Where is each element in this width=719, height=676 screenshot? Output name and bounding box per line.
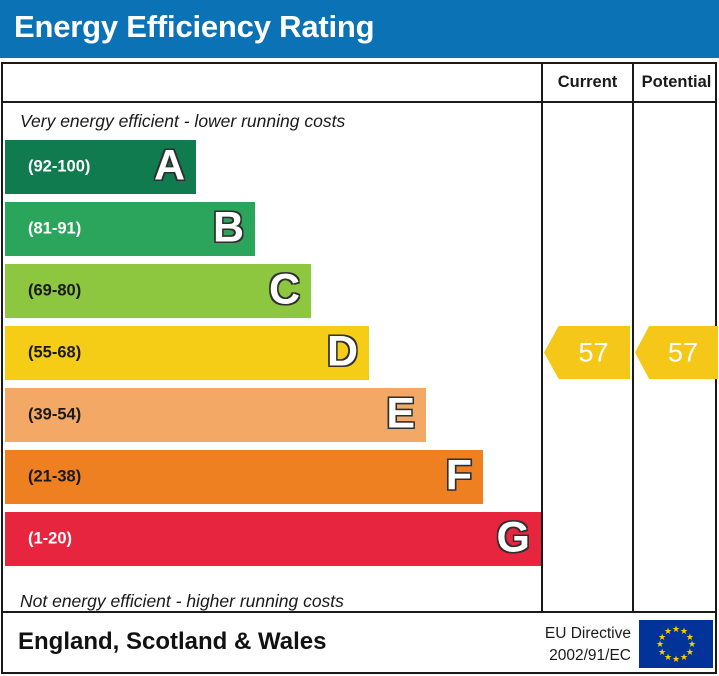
rating-band-range-d: (55-68)	[28, 344, 81, 363]
rating-band-range-b: (81-91)	[28, 220, 81, 239]
column-divider-current	[541, 64, 543, 611]
rating-band-letter-g: G	[497, 517, 530, 560]
eu-flag-star: ★	[672, 655, 680, 663]
rating-band-letter-a: A	[154, 145, 185, 188]
eu-flag-star: ★	[672, 625, 680, 633]
rating-band-e: (39-54)E	[5, 388, 426, 442]
caption-not-efficient: Not energy efficient - higher running co…	[20, 591, 344, 612]
rating-band-b: (81-91)B	[5, 202, 255, 256]
eu-directive-line1: EU Directive	[519, 623, 631, 645]
rating-table: Current Potential Very energy efficient …	[1, 62, 717, 613]
rating-band-letter-b: B	[213, 207, 244, 250]
rating-band-range-c: (69-80)	[28, 282, 81, 301]
rating-band-letter-f: F	[446, 455, 472, 498]
column-divider-potential	[632, 64, 634, 611]
current-rating-arrow: 57	[544, 326, 630, 379]
page-title: Energy Efficiency Rating	[14, 9, 374, 45]
eu-directive-line2: 2002/91/EC	[519, 645, 631, 667]
eu-directive-label: EU Directive 2002/91/EC	[519, 623, 631, 668]
potential-rating-value: 57	[635, 339, 718, 366]
rating-band-range-f: (21-38)	[28, 468, 81, 487]
footer-region-label: England, Scotland & Wales	[18, 628, 326, 656]
rating-band-g: (1-20)G	[5, 512, 541, 566]
chart-footer: England, Scotland & Wales EU Directive 2…	[1, 613, 717, 674]
rating-band-d: (55-68)D	[5, 326, 369, 380]
rating-band-range-g: (1-20)	[28, 530, 72, 549]
rating-band-letter-e: E	[386, 393, 415, 436]
rating-band-a: (92-100)A	[5, 140, 196, 194]
current-rating-value: 57	[544, 339, 630, 366]
energy-efficiency-rating-chart: Energy Efficiency Rating Current Potenti…	[0, 0, 719, 676]
rating-band-letter-d: D	[327, 331, 358, 374]
rating-band-c: (69-80)C	[5, 264, 311, 318]
column-header-potential: Potential	[634, 73, 719, 92]
eu-flag-star: ★	[680, 653, 688, 661]
caption-very-efficient: Very energy efficient - lower running co…	[20, 111, 345, 132]
chart-header-banner: Energy Efficiency Rating	[0, 0, 719, 58]
rating-band-f: (21-38)F	[5, 450, 483, 504]
eu-flag-star: ★	[664, 627, 672, 635]
column-header-current: Current	[543, 73, 632, 92]
potential-rating-arrow: 57	[635, 326, 718, 379]
rating-band-range-a: (92-100)	[28, 158, 90, 177]
rating-band-letter-c: C	[269, 269, 300, 312]
eu-flag-icon: ★★★★★★★★★★★★	[639, 620, 713, 668]
rating-band-range-e: (39-54)	[28, 406, 81, 425]
